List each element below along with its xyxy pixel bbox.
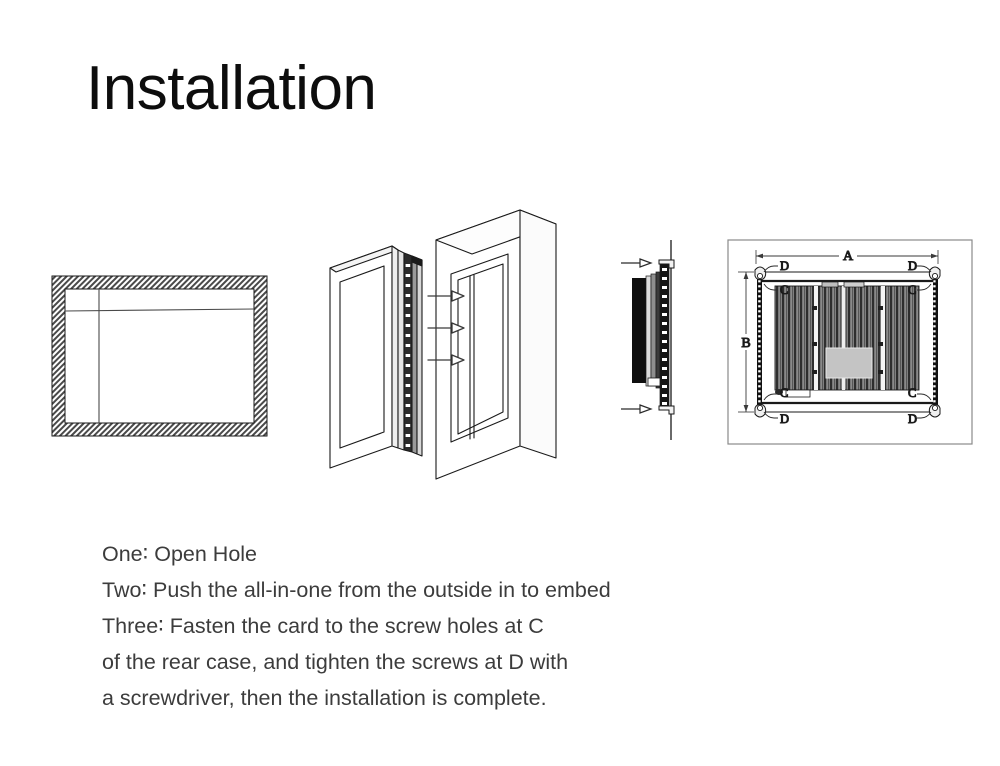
inner-horizontal-reference-line: [65, 309, 254, 311]
instruction-text: Push the all-in-one from the outside in …: [153, 578, 611, 602]
corner-bracket-bottom-right: [929, 404, 940, 417]
left-perforated-rail: [757, 270, 762, 414]
corner-bracket-bottom-left: [755, 404, 766, 417]
instruction-key: Two∶: [102, 578, 147, 602]
instruction-line: of the rear case, and tighten the screws…: [102, 644, 611, 680]
clamp-arrow-top: [621, 259, 651, 267]
hatched-frame-band: [52, 276, 267, 436]
open-hole-drawing: [40, 262, 280, 452]
device-plate-mid: [651, 274, 656, 386]
dimension-a-label: A: [843, 249, 854, 264]
side-view-drawing: [618, 240, 724, 440]
corner-bracket-top-left: [755, 267, 766, 280]
device-body-slab: [632, 278, 646, 383]
instruction-text: Open Hole: [154, 542, 257, 566]
instruction-line: a screwdriver, then the installation is …: [102, 680, 611, 716]
callout-top-right-c-label: C: [908, 283, 916, 297]
installation-page: Installation: [0, 0, 1000, 766]
centre-module: [826, 348, 872, 378]
instruction-text: a screwdriver, then the installation is …: [102, 686, 547, 710]
bottom-mounting-clamp: [659, 406, 674, 414]
all-in-one-device: [330, 246, 404, 468]
callout-bottom-right-c-label: C: [908, 386, 916, 400]
clamp-arrow-bottom: [621, 405, 651, 413]
instruction-text: Fasten the card to the screw holes at C: [170, 614, 544, 638]
wall-panel: [436, 210, 556, 479]
corner-bracket-top-right: [929, 267, 940, 280]
instruction-key: Three∶: [102, 614, 164, 638]
heatsink-fin-block: [775, 282, 919, 397]
middle-tab: [648, 378, 660, 386]
callout-top-right-d-label: D: [908, 259, 917, 273]
dimension-b-label: B: [741, 336, 750, 351]
instruction-line: Two∶ Push the all-in-one from the outsid…: [102, 572, 611, 608]
bottom-cross-bar: [762, 403, 933, 412]
top-cross-bar: [762, 272, 933, 281]
callout-bottom-left-c-label: C: [780, 386, 788, 400]
rear-view-drawing: A B: [722, 234, 978, 450]
instruction-line: Three∶ Fasten the card to the screw hole…: [102, 608, 611, 644]
callout-bottom-right-d-label: D: [908, 412, 917, 426]
figure-open-hole: [40, 262, 280, 452]
instruction-line: One∶ Open Hole: [102, 536, 611, 572]
figure-side-view: [618, 240, 724, 440]
device-plate-light: [646, 276, 651, 386]
callout-bottom-left-d-label: D: [780, 412, 789, 426]
instruction-text: of the rear case, and tighten the screws…: [102, 650, 568, 674]
right-perforated-rail: [933, 270, 938, 414]
callout-top-left-d-label: D: [780, 259, 789, 273]
instruction-list: One∶ Open Hole Two∶ Push the all-in-one …: [102, 536, 611, 716]
instruction-key: One∶: [102, 542, 148, 566]
device-plate-dark: [656, 272, 660, 388]
figure-exploded-view: [318, 196, 590, 492]
callout-top-left-c-label: C: [780, 283, 788, 297]
page-title: Installation: [86, 58, 376, 120]
exploded-view-drawing: [318, 196, 590, 492]
figure-rear-view: A B: [722, 234, 978, 450]
